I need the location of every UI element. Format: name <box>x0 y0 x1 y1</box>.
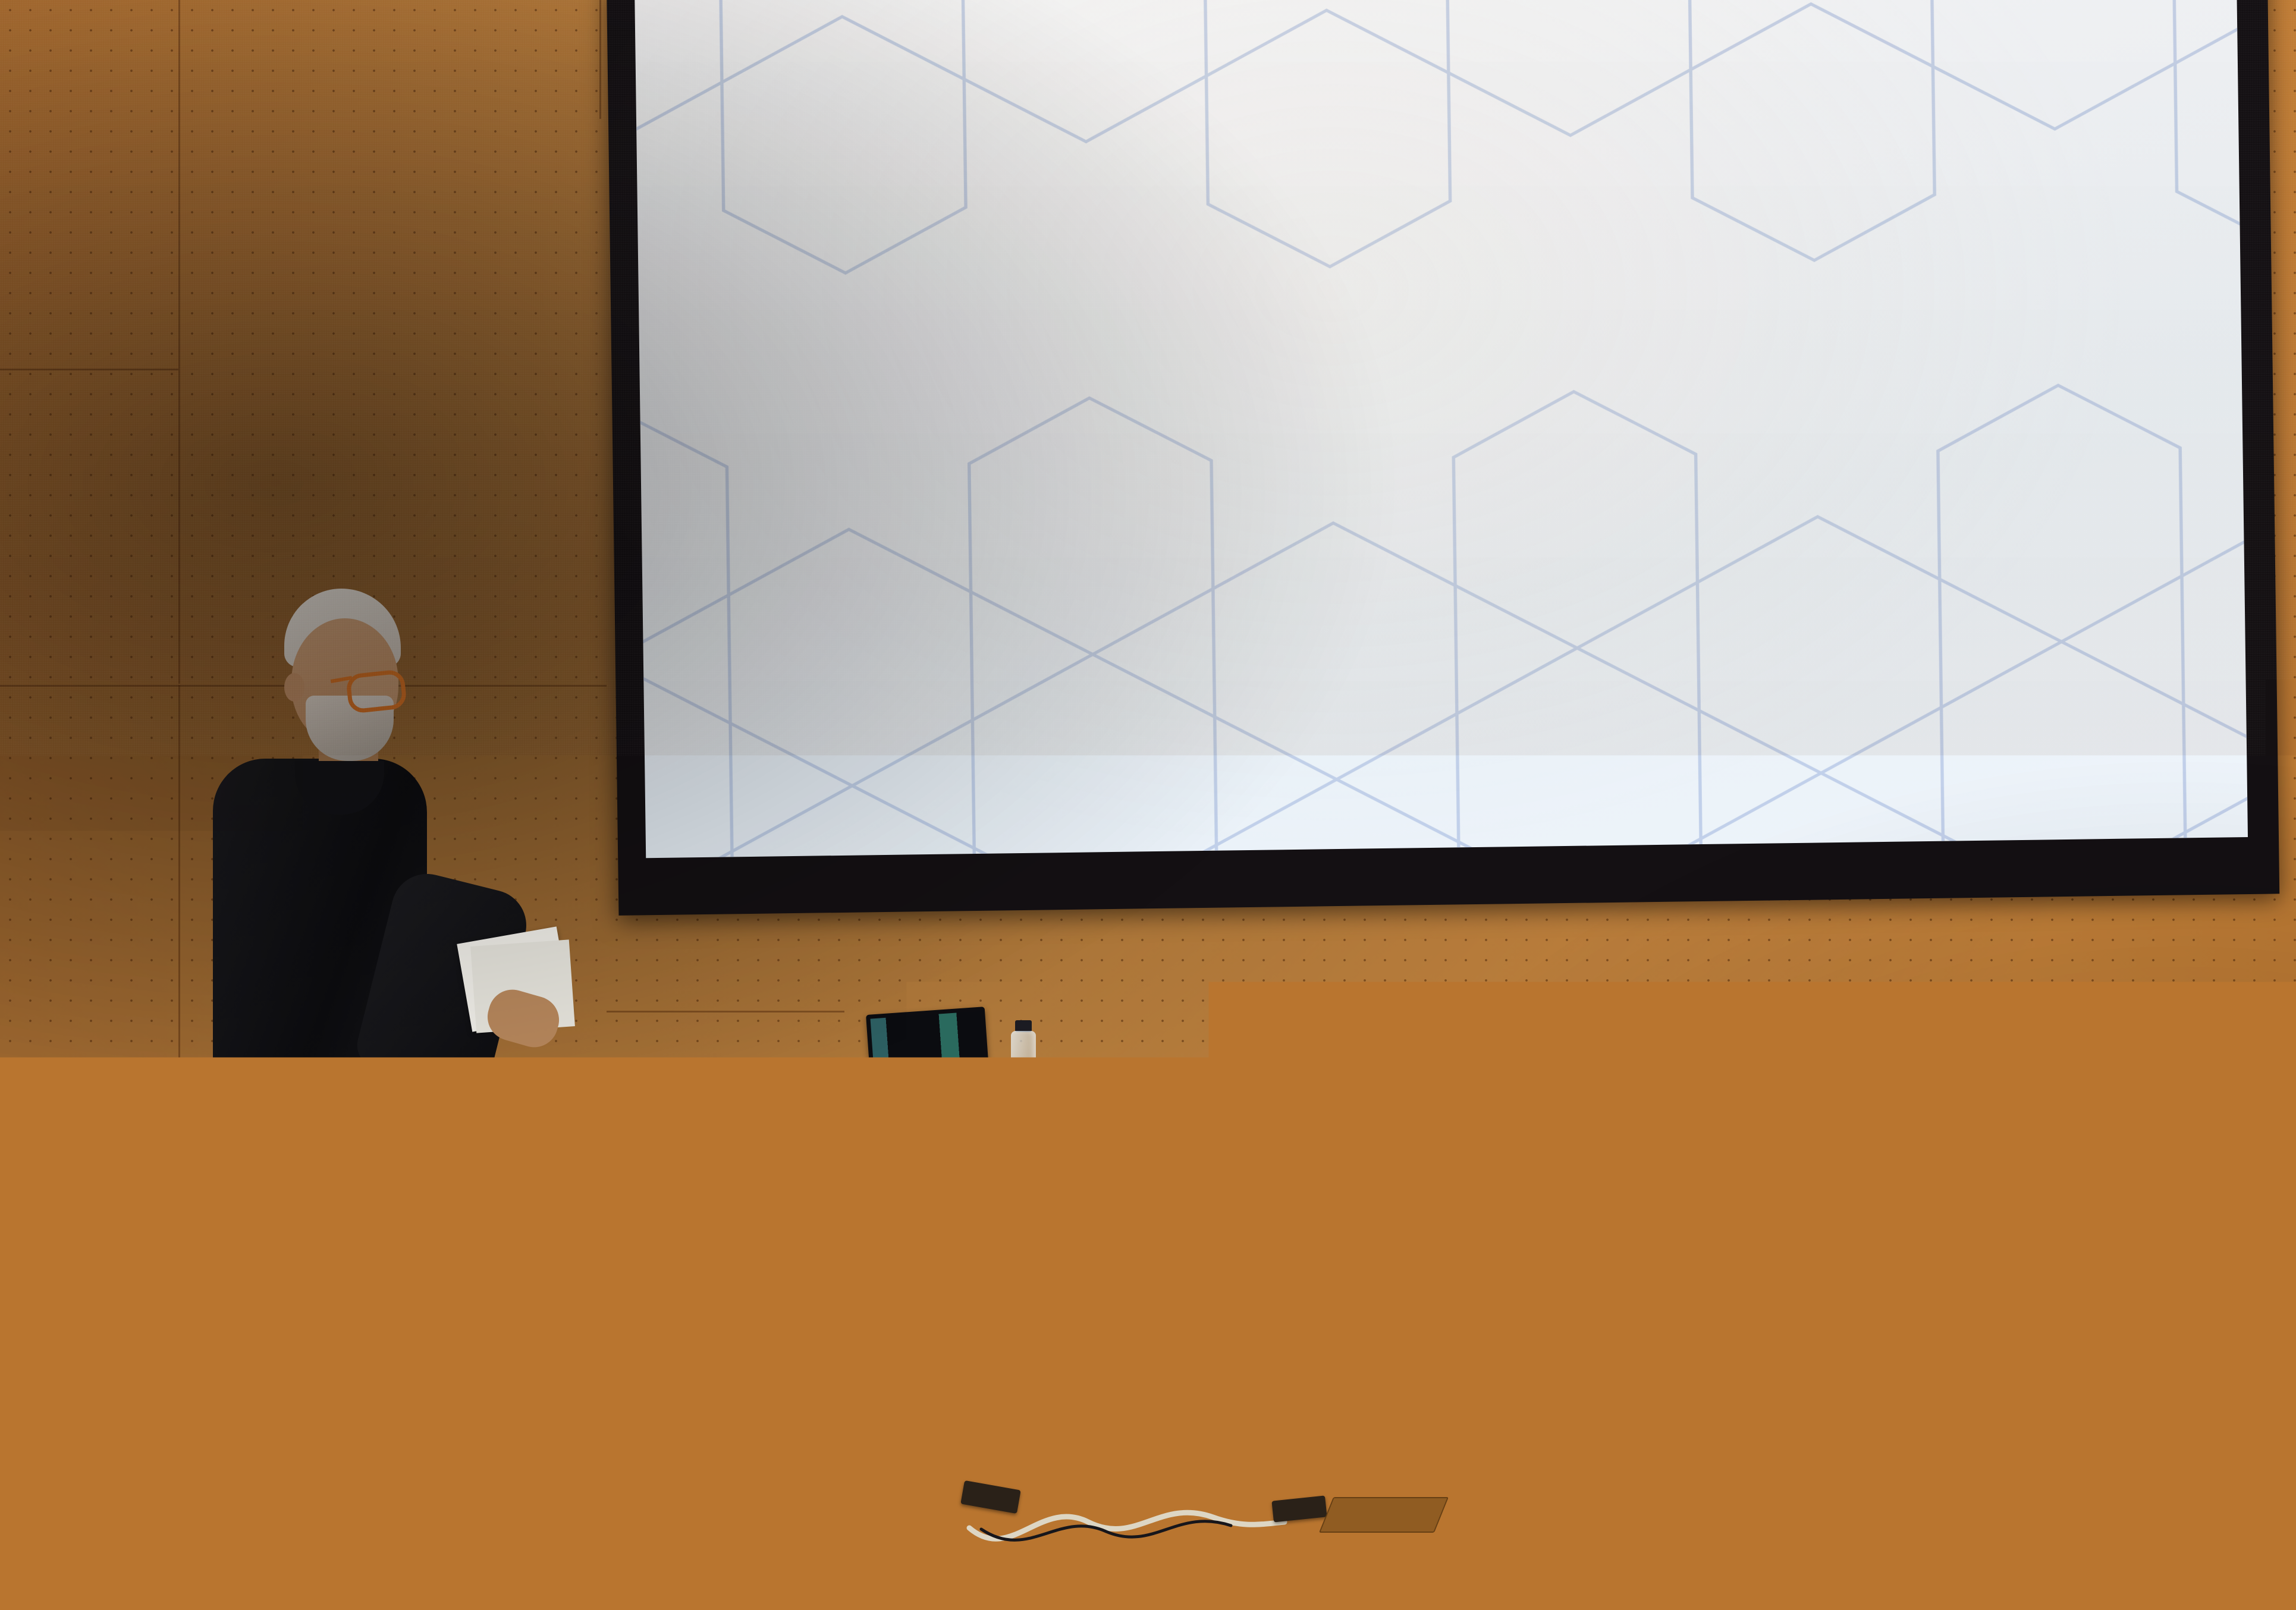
slide-title: Baltasar Peréz Saborido <box>1094 159 1942 250</box>
floor-socket-plate[interactable] <box>1319 1497 1449 1533</box>
banner-line1: HOSPITAL UNIVERSITARIO <box>709 99 880 112</box>
efqm-star-icon: ★ <box>610 1232 653 1287</box>
sacyl-logo-icon <box>1908 707 1965 773</box>
slide-organization: ASVAO <box>1498 448 1655 504</box>
junta-label-line1: Junta de <box>2149 706 2247 730</box>
efqm-star-icon: ★ <box>617 1338 642 1370</box>
sponsor-icscyl: S CYL <box>1766 714 1855 766</box>
junta-label-line2: Castilla y León <box>2149 729 2247 777</box>
roche-wordmark: Roche <box>855 650 979 699</box>
speaker-person <box>178 583 559 1605</box>
junta-shield-icon <box>2110 716 2142 766</box>
sponsor-sacyl: Sacyl <box>1908 707 2057 773</box>
wall-panel-seam <box>0 369 178 370</box>
efqm-star-icon: ★ <box>592 1298 614 1326</box>
slide-role: Coordinador de Innovación <box>1248 358 1805 416</box>
efqm-scheme: EFQM <box>573 1475 618 1494</box>
wall-panel-seam <box>178 0 180 684</box>
hospital-logo-icon <box>726 0 845 46</box>
speaker-shoe <box>249 1558 351 1599</box>
efqm-years: 2022 - 2025 <box>622 1480 657 1488</box>
icscyl-mark: S <box>1786 721 1810 757</box>
icscyl-logo-icon: S CYL <box>1766 714 1855 766</box>
speaker-legs <box>230 1165 408 1558</box>
sponsor-logo-row: S CYL Sacyl Junta de <box>1766 704 2247 777</box>
sponsor-junta-castilla-leon: Junta de Castilla y León <box>2110 706 2247 778</box>
speaker-glasses <box>346 669 407 714</box>
floor-socket-plate[interactable] <box>2048 1439 2165 1454</box>
wall-panel-seam <box>599 0 601 119</box>
slide-pip-video: HOSPITAL UNIVERSITARIO RÍO HORTEGA <box>636 0 1336 315</box>
sacyl-wordmark: Sacyl <box>1973 721 2057 761</box>
pip-podium <box>657 164 770 313</box>
roche-logo: Roche <box>828 631 1007 721</box>
icscyl-subtext: CYL <box>1820 749 1848 764</box>
photo-scene: HOSPITAL UNIVERSITARIO RÍO HORTEGA <box>0 0 2296 1610</box>
presentation-slide: HOSPITAL UNIVERSITARIO RÍO HORTEGA <box>635 0 2248 858</box>
shoe-laces <box>266 1566 332 1586</box>
projection-screen-frame: HOSPITAL UNIVERSITARIO RÍO HORTEGA <box>607 0 2279 916</box>
banner-line2: RÍO HORTEGA <box>731 124 858 144</box>
